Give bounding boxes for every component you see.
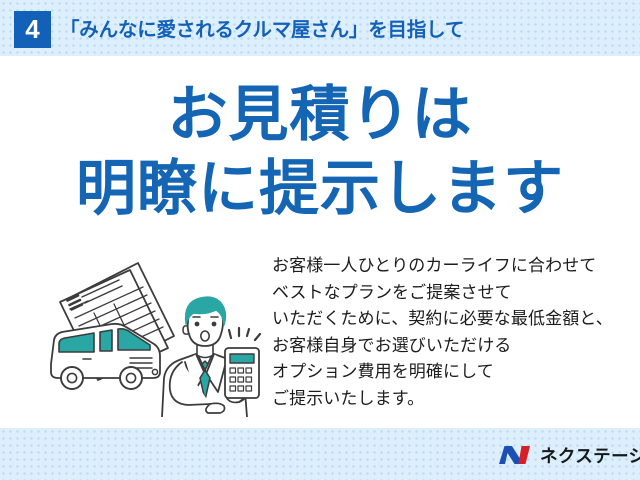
body-line: お客様一人ひとりのカーライフに合わせて [272, 253, 622, 280]
calculator-icon [225, 348, 259, 398]
body-line: オプション費用を明確にして [272, 359, 622, 386]
step-number-badge: 4 [14, 11, 51, 48]
body-line: お客様自身でお選びいただける [272, 333, 622, 360]
header-title: 「みんなに愛されるクルマ屋さん」を目指して [60, 13, 464, 47]
nextstage-n-logo-icon [497, 443, 533, 467]
body-line: いただくために、契約に必要な最低金額と、 [272, 306, 622, 333]
body-line: ご提示いたします。 [272, 386, 622, 413]
headline-line-2: 明瞭に提示します [0, 152, 640, 226]
illustration-salesman-quote-van [42, 252, 270, 417]
brand-lockup: ネクステージ [497, 440, 640, 470]
body-line: ベストなプランをご提案させて [272, 280, 622, 307]
brand-name: ネクステージ [540, 443, 640, 468]
promo-card: 4 「みんなに愛されるクルマ屋さん」を目指して お見積りは 明瞭に提示します お… [0, 0, 640, 480]
headline-line-1: お見積りは [0, 78, 640, 152]
sparkle-icon [229, 328, 260, 340]
body-copy: お客様一人ひとりのカーライフに合わせて ベストなプランをご提案させて いただくた… [272, 253, 622, 412]
headline: お見積りは 明瞭に提示します [0, 78, 640, 226]
